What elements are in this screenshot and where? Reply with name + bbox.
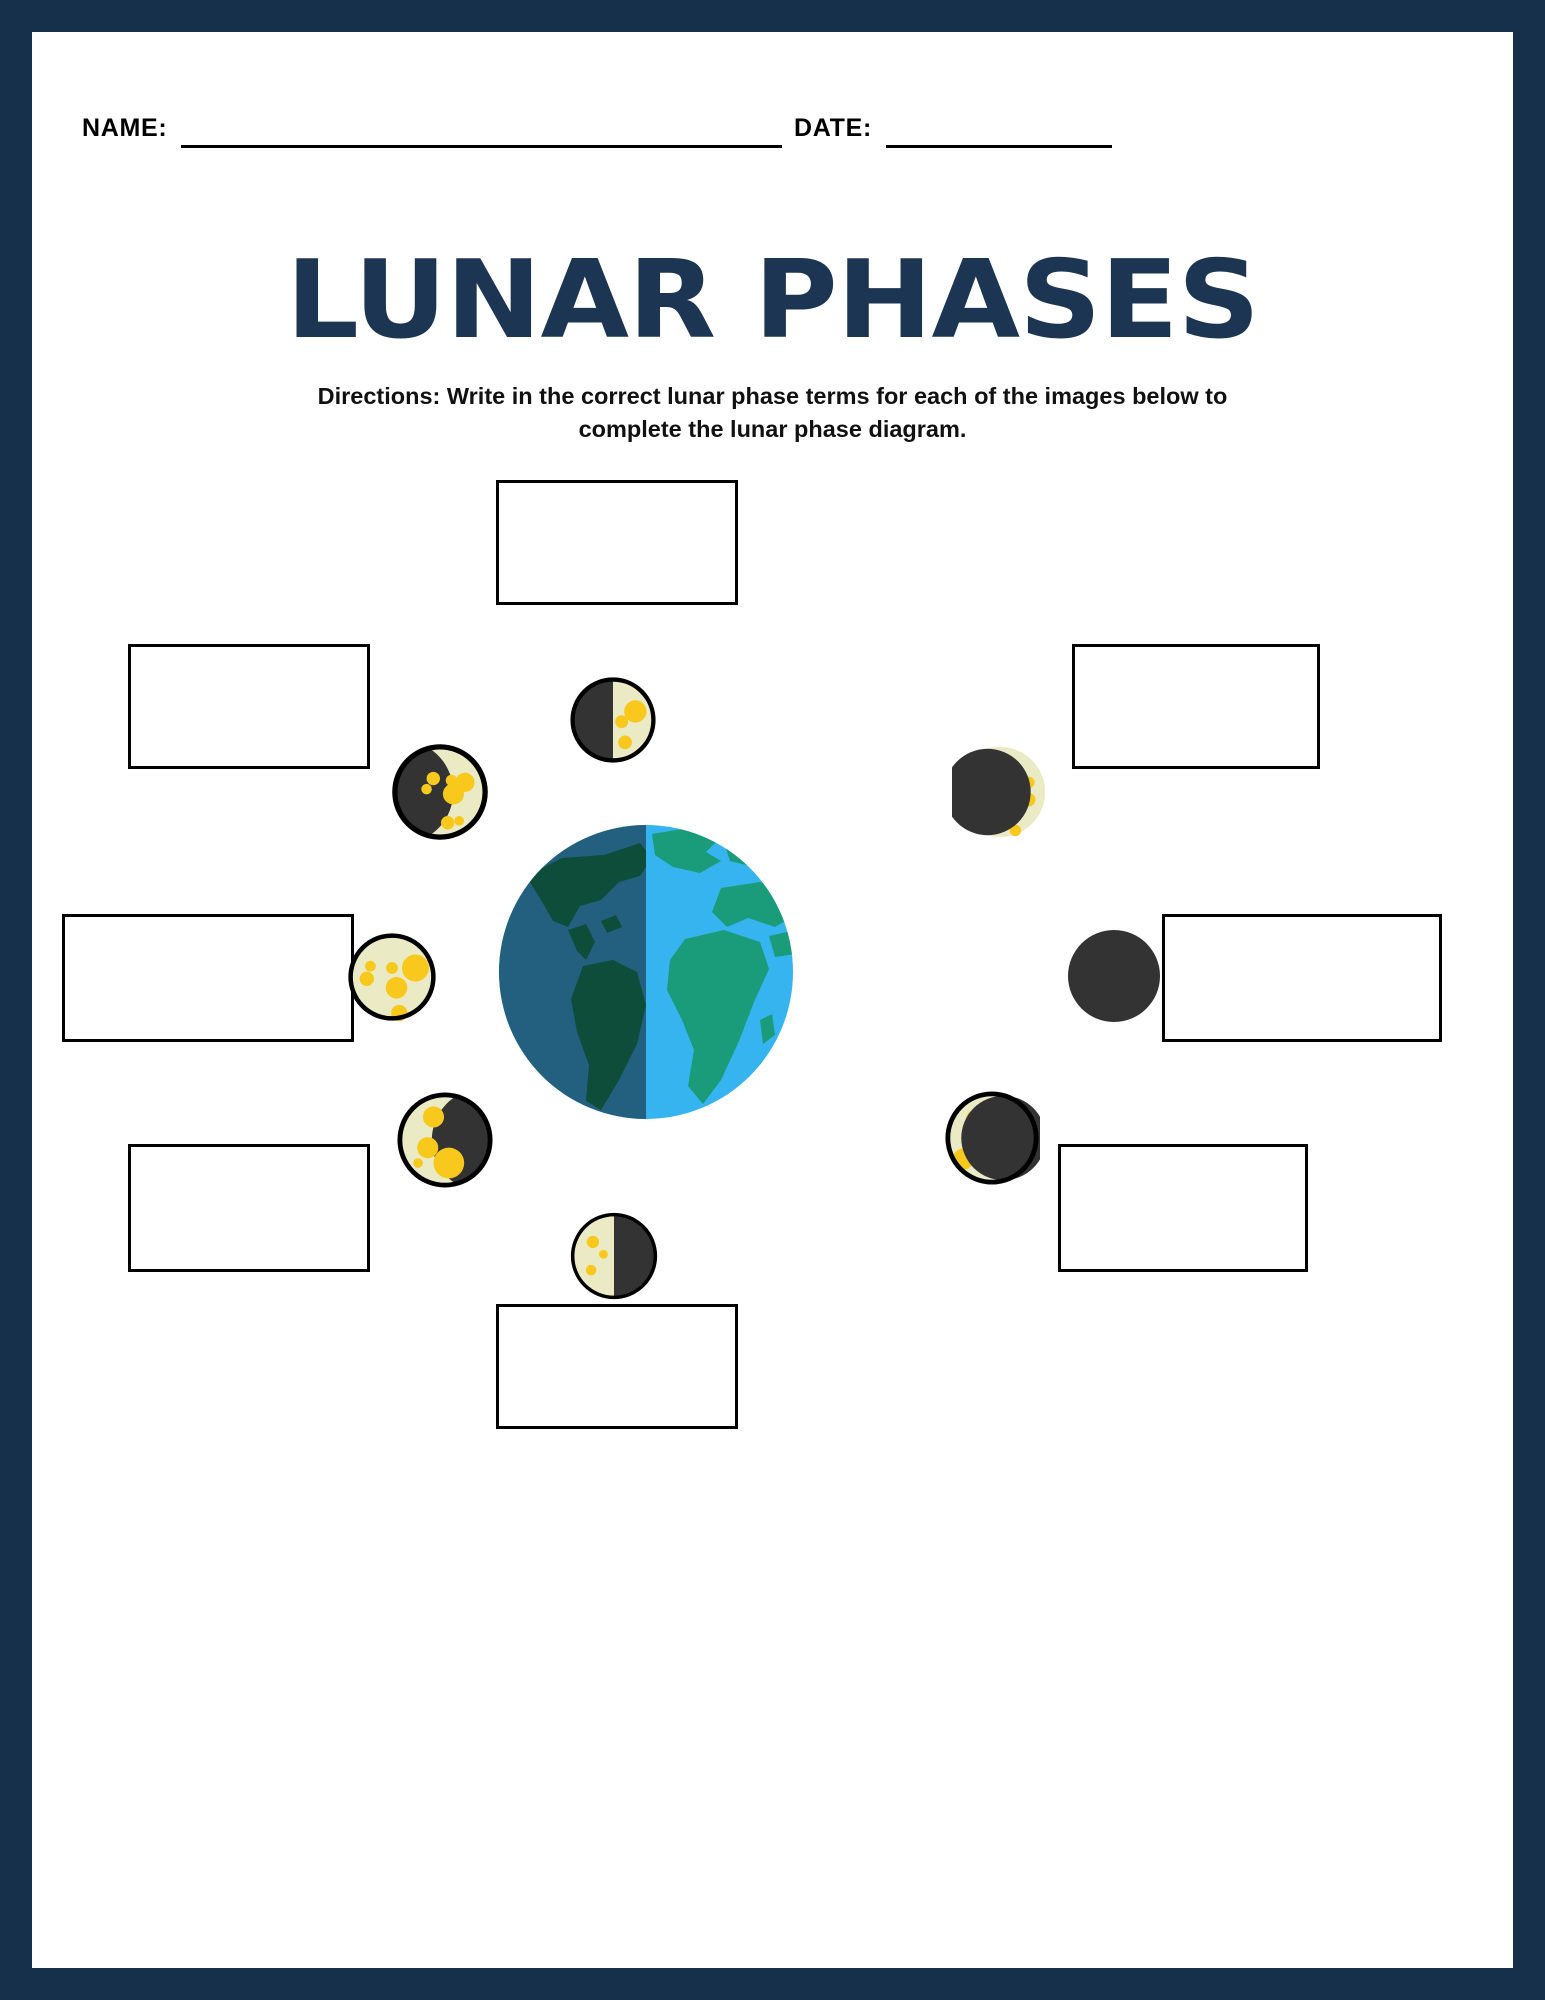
answer-box-right[interactable] <box>1162 914 1442 1042</box>
page-title: LUNAR PHASES <box>0 244 1545 357</box>
worksheet-sheet: NAME: DATE: LUNAR PHASES Directions: Wri… <box>32 32 1513 1968</box>
answer-box-bottom[interactable] <box>496 1304 738 1429</box>
answer-box-lower-left[interactable] <box>128 1144 370 1272</box>
answer-box-upper-right[interactable] <box>1072 644 1320 769</box>
moon-new <box>1068 930 1160 1022</box>
directions-text: Directions: Write in the correct lunar p… <box>278 380 1268 447</box>
moon-third-quarter <box>570 1212 658 1300</box>
answer-box-upper-left[interactable] <box>128 644 370 769</box>
header-fields: NAME: DATE: <box>32 102 1513 182</box>
answer-box-top[interactable] <box>496 480 738 605</box>
moon-waning-crescent <box>944 1090 1040 1186</box>
moon-waxing-gibbous <box>392 744 488 840</box>
earth-illustration <box>496 822 796 1122</box>
moon-full <box>347 932 437 1022</box>
date-field[interactable]: DATE: <box>794 102 1112 148</box>
date-write-line[interactable] <box>886 102 1112 148</box>
name-write-line[interactable] <box>181 102 782 148</box>
name-label: NAME: <box>82 116 167 148</box>
moon-waxing-crescent <box>952 744 1048 840</box>
answer-box-lower-right[interactable] <box>1058 1144 1308 1272</box>
worksheet-page: NAME: DATE: LUNAR PHASES Directions: Wri… <box>0 0 1545 2000</box>
answer-box-left[interactable] <box>62 914 354 1042</box>
date-label: DATE: <box>794 116 872 148</box>
name-field[interactable]: NAME: <box>82 102 782 148</box>
moon-first-quarter <box>570 677 656 763</box>
moon-waning-gibbous <box>397 1092 493 1188</box>
